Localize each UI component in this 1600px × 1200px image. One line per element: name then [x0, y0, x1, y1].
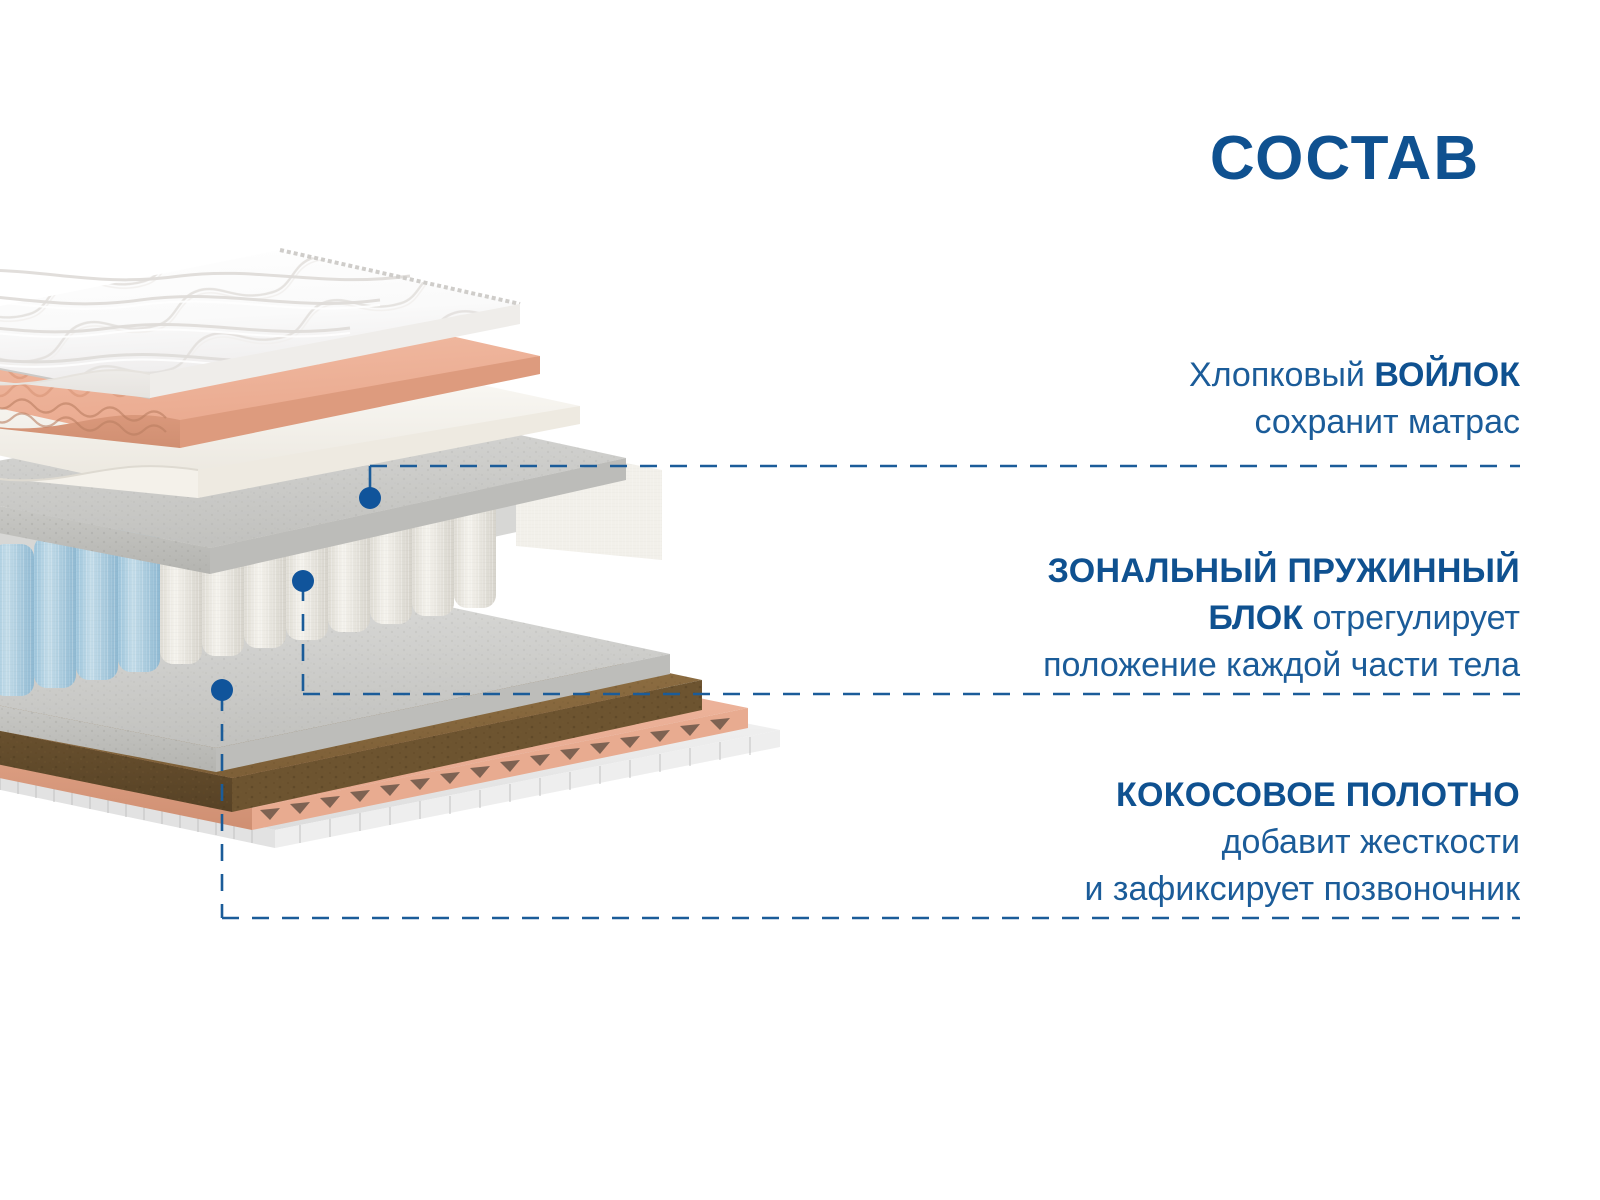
callout-spring-block: ЗОНАЛЬНЫЙ ПРУЖИННЫЙ БЛОК отрегулирует по…	[820, 548, 1520, 689]
callout-felt-line1: Хлопковый ВОЙЛОК	[820, 352, 1520, 399]
callout-spring-line1: ЗОНАЛЬНЫЙ ПРУЖИННЫЙ	[820, 548, 1520, 595]
callout-felt-line1-plain: Хлопковый	[1189, 356, 1374, 394]
callout-spring-line2: БЛОК отрегулирует	[820, 595, 1520, 642]
leader-dot-felt	[359, 487, 381, 509]
callout-felt-line1-bold: ВОЙЛОК	[1374, 356, 1520, 394]
callout-coconut-line1: КОКОСОВОЕ ПОЛОТНО	[820, 772, 1520, 819]
callout-spring-line3: положение каждой части тела	[820, 642, 1520, 689]
callout-cotton-felt: Хлопковый ВОЙЛОК сохранит матрас	[820, 352, 1520, 446]
callout-spring-line2-plain: отрегулирует	[1303, 599, 1520, 637]
callout-coconut-line3: и зафиксирует позвоночник	[820, 866, 1520, 913]
leader-cotton-felt	[359, 466, 1520, 509]
page-title: СОСТАВ	[1170, 128, 1520, 190]
leader-dot-coconut	[211, 679, 233, 701]
callout-coconut: КОКОСОВОЕ ПОЛОТНО добавит жесткости и за…	[820, 772, 1520, 913]
leader-dot-spring	[292, 570, 314, 592]
callout-coconut-line2: добавит жесткости	[820, 819, 1520, 866]
callout-felt-line2: сохранит матрас	[820, 399, 1520, 446]
poster-canvas: СОСТАВ Хлопковый ВОЙЛОК сохранит матрас …	[0, 0, 1600, 1200]
callout-spring-line2-bold: БЛОК	[1208, 599, 1303, 637]
